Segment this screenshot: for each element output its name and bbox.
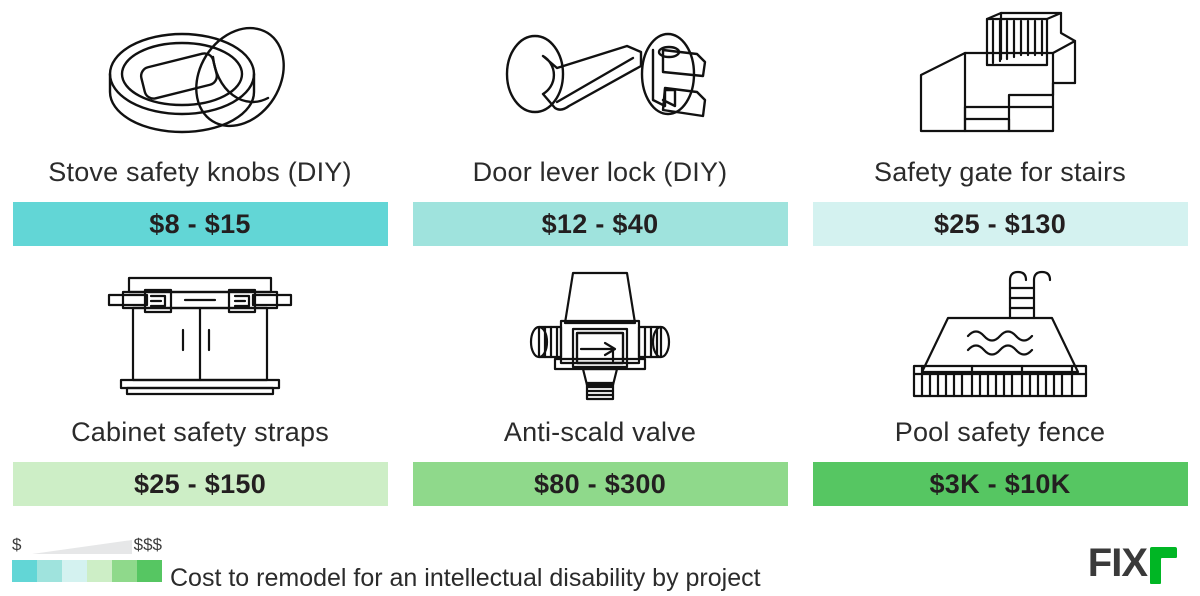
chart-caption: Cost to remodel for an intellectual disa… bbox=[170, 564, 761, 593]
project-cell-safety-gate-for-stairs: Safety gate for stairs $25 - $130 bbox=[800, 0, 1200, 260]
stove-safety-knob-icon bbox=[0, 0, 400, 148]
project-cost-grid: Stove safety knobs (DIY) $8 - $15 Door l… bbox=[0, 0, 1200, 520]
price-bar: $3K - $10K bbox=[813, 462, 1188, 506]
project-label: Pool safety fence bbox=[800, 408, 1200, 456]
legend-swatch-1 bbox=[12, 560, 37, 582]
project-label: Door lever lock (DIY) bbox=[400, 148, 800, 196]
pool-safety-fence-icon bbox=[800, 260, 1200, 408]
stair-safety-gate-icon bbox=[800, 0, 1200, 148]
legend-swatch-4 bbox=[87, 560, 112, 582]
footer: $ $$$ Cost to remodel for an intellectua… bbox=[0, 520, 1200, 596]
project-cell-door-lever-lock: Door lever lock (DIY) $12 - $40 bbox=[400, 0, 800, 260]
project-cell-anti-scald-valve: Anti-scald valve $80 - $300 bbox=[400, 260, 800, 520]
legend-swatch-6 bbox=[137, 560, 162, 582]
project-label: Anti-scald valve bbox=[400, 408, 800, 456]
legend-swatch-3 bbox=[62, 560, 87, 582]
legend-swatch-row bbox=[12, 560, 162, 582]
fixr-logo: FIX bbox=[1088, 542, 1178, 584]
legend-max-label: $$$ bbox=[134, 534, 162, 556]
legend-min-label: $ bbox=[12, 534, 21, 556]
project-cell-stove-safety-knobs: Stove safety knobs (DIY) $8 - $15 bbox=[0, 0, 400, 260]
project-label: Safety gate for stairs bbox=[800, 148, 1200, 196]
logo-mark-accent bbox=[1148, 545, 1178, 585]
door-lever-lock-icon bbox=[400, 0, 800, 148]
anti-scald-valve-icon bbox=[400, 260, 800, 408]
price-bar: $12 - $40 bbox=[413, 202, 788, 246]
project-label: Cabinet safety straps bbox=[0, 408, 400, 456]
legend-swatch-5 bbox=[112, 560, 137, 582]
price-bar: $8 - $15 bbox=[13, 202, 388, 246]
cabinet-safety-strap-icon bbox=[0, 260, 400, 408]
cost-legend: $ $$$ bbox=[12, 534, 162, 582]
price-bar: $25 - $130 bbox=[813, 202, 1188, 246]
price-bar: $80 - $300 bbox=[413, 462, 788, 506]
project-cell-pool-safety-fence: Pool safety fence $3K - $10K bbox=[800, 260, 1200, 520]
project-label: Stove safety knobs (DIY) bbox=[0, 148, 400, 196]
legend-scale: $ $$$ bbox=[12, 534, 162, 558]
project-cell-cabinet-safety-straps: Cabinet safety straps $25 - $150 bbox=[0, 260, 400, 520]
price-bar: $25 - $150 bbox=[13, 462, 388, 506]
legend-gradient-wedge bbox=[32, 536, 132, 556]
logo-text-dark: FIX bbox=[1088, 543, 1147, 583]
legend-swatch-2 bbox=[37, 560, 62, 582]
